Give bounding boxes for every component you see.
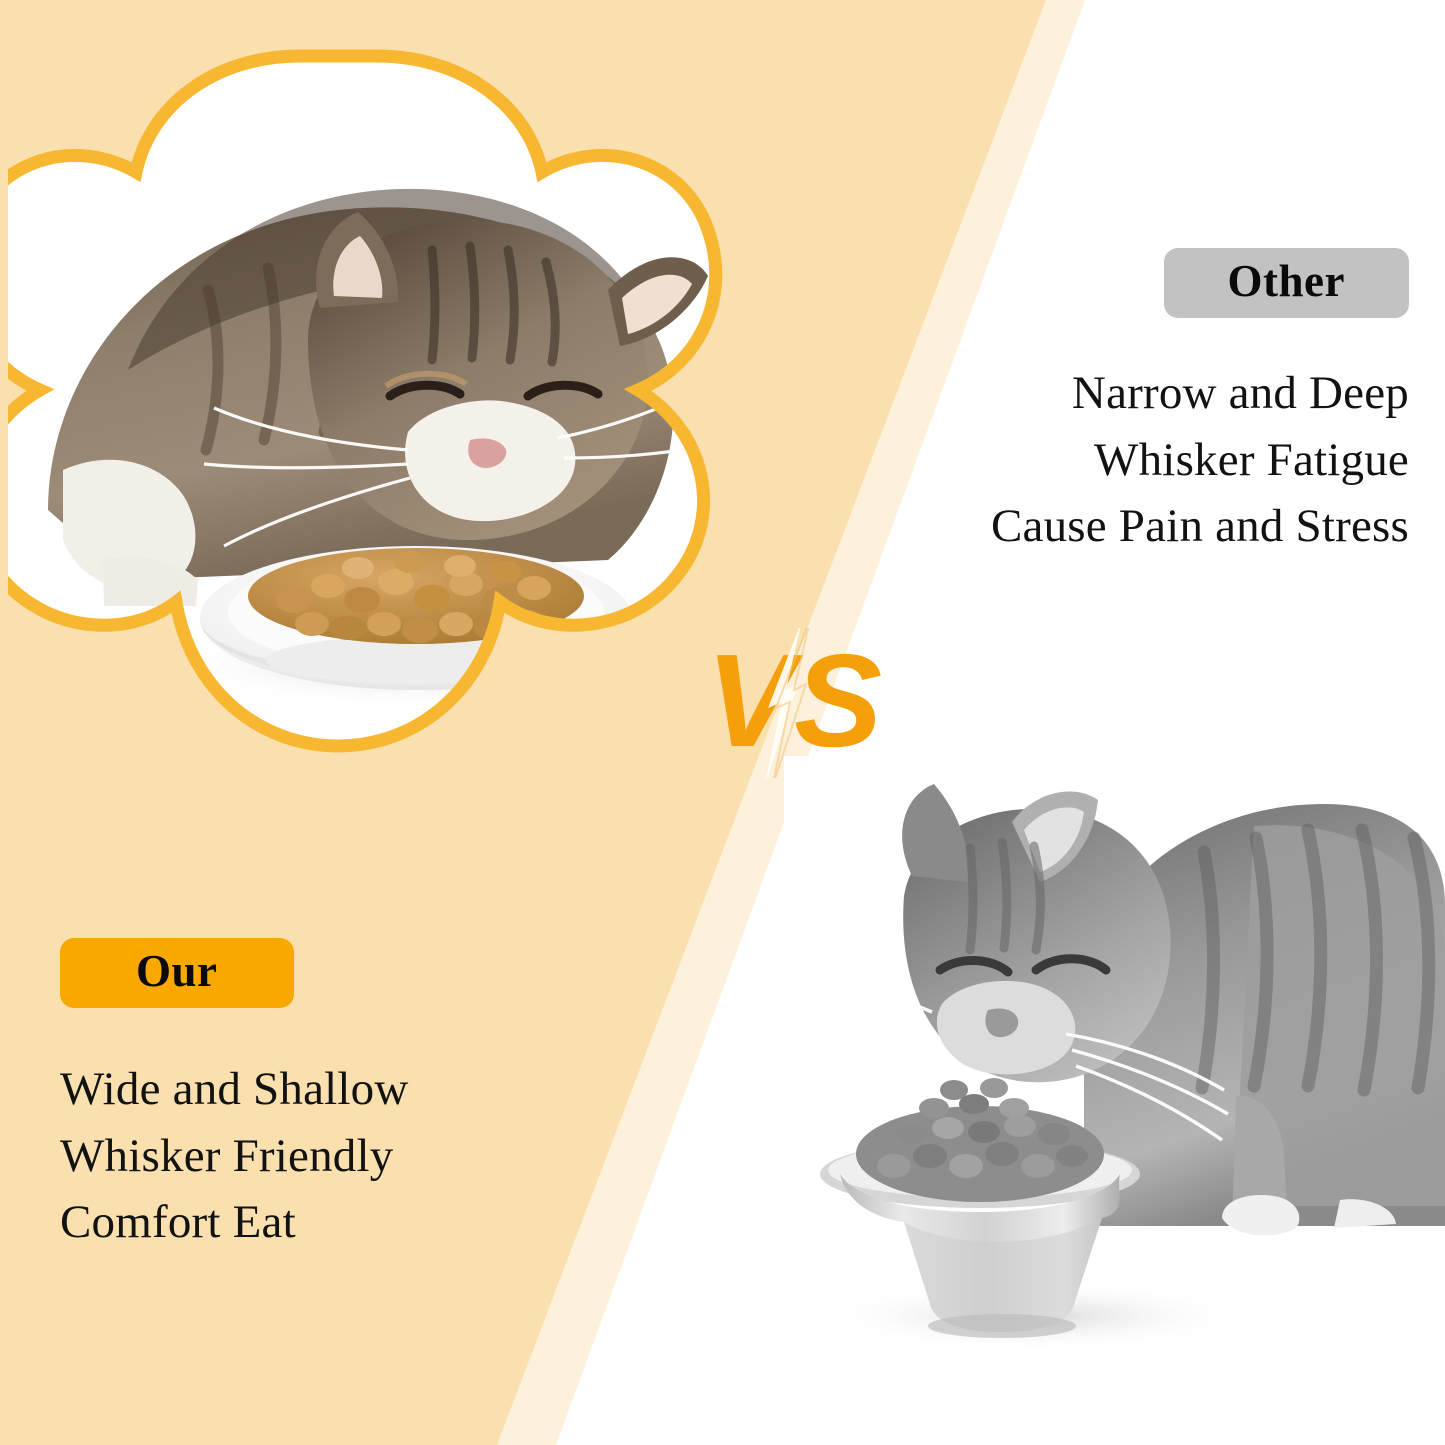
other-feature-1: Whisker Fatigue — [809, 427, 1409, 494]
other-feature-list: Narrow and Deep Whisker Fatigue Cause Pa… — [809, 360, 1409, 560]
other-feature-2: Cause Pain and Stress — [809, 493, 1409, 560]
grayscale-cat-photo — [784, 756, 1445, 1376]
our-feature-0: Wide and Shallow — [60, 1056, 680, 1123]
other-column: Other Narrow and Deep Whisker Fatigue Ca… — [809, 248, 1409, 560]
our-column: Our Wide and Shallow Whisker Friendly Co… — [60, 938, 680, 1256]
vs-lightning-icon: VS — [706, 628, 896, 778]
other-feature-0: Narrow and Deep — [809, 360, 1409, 427]
our-feature-1: Whisker Friendly — [60, 1123, 680, 1190]
our-feature-list: Wide and Shallow Whisker Friendly Comfor… — [60, 1056, 680, 1256]
comparison-infographic: Other Narrow and Deep Whisker Fatigue Ca… — [0, 0, 1445, 1445]
badge-our: Our — [60, 938, 294, 1008]
vs-divider: VS — [706, 628, 896, 778]
badge-other: Other — [1164, 248, 1409, 318]
our-feature-2: Comfort Eat — [60, 1189, 680, 1256]
cat-color-photo-icon — [8, 40, 744, 780]
flower-frame-photo — [8, 40, 744, 780]
